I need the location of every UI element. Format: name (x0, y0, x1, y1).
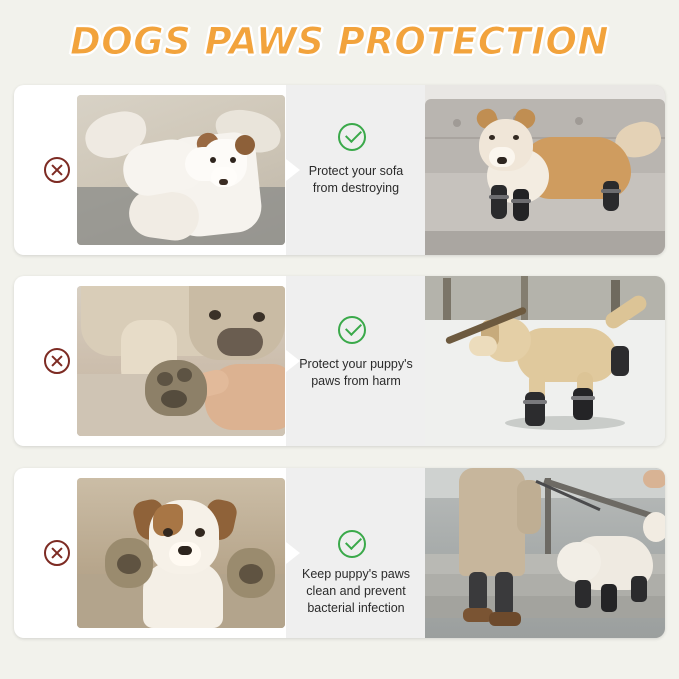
dog-tail (643, 512, 665, 542)
boot-strap (489, 195, 509, 199)
good-example-photo (425, 276, 665, 446)
dog-muzzle (217, 328, 263, 356)
boot-strap (601, 189, 621, 193)
dog-muzzle (469, 336, 497, 356)
arrow-right-icon (286, 542, 300, 564)
dog-eye (209, 310, 221, 320)
dog-eye (513, 135, 519, 140)
page-title: DOGS PAWS PROTECTION (0, 20, 679, 63)
dog-nose (178, 546, 192, 555)
caption-line: Protect your puppy's (292, 356, 420, 373)
bad-example-photo (77, 478, 285, 628)
dog-boot (611, 346, 629, 376)
no-entry-icon (44, 157, 70, 183)
check-tick (345, 533, 362, 550)
dog-eye (489, 135, 495, 140)
stair-step (425, 596, 665, 618)
stair-step (425, 618, 665, 638)
person-leg (469, 572, 487, 612)
caption-line: clean and prevent (292, 583, 420, 600)
tree-trunk (521, 276, 528, 322)
good-example-photo (425, 468, 665, 638)
bad-example-photo (77, 286, 285, 436)
dog-eye (163, 528, 173, 537)
person-leg (495, 572, 513, 616)
dog-boot (631, 576, 647, 602)
benefit-row: Protect your sofa from destroying (14, 85, 665, 255)
human-hand (643, 470, 665, 488)
paw-pad (161, 390, 187, 408)
good-example-photo (425, 85, 665, 255)
check-circle-icon (338, 530, 366, 558)
sofa-tuft (453, 119, 461, 127)
check-circle-icon (338, 123, 366, 151)
benefit-caption: Protect your sofa from destroying (292, 163, 420, 197)
paw-pad (157, 372, 173, 386)
dog-eye (230, 157, 236, 163)
boot-strap (523, 400, 547, 404)
sofa-front (425, 231, 665, 255)
person-arm (517, 480, 541, 534)
sofa-tuft (575, 117, 583, 125)
tree-trunk (443, 278, 451, 322)
caption-line: Protect your sofa (292, 163, 420, 180)
no-entry-icon (44, 348, 70, 374)
benefit-row: Protect your puppy's paws from harm (14, 276, 665, 446)
caption-panel: Protect your sofa from destroying (286, 85, 425, 255)
dog-boot (513, 189, 529, 221)
check-tick (345, 319, 362, 336)
benefit-caption: Protect your puppy's paws from harm (292, 356, 420, 390)
dog-head (557, 542, 601, 582)
boot-strap (511, 199, 531, 203)
paw-pad (177, 368, 192, 382)
caption-line: from destroying (292, 180, 420, 197)
bad-example-photo (77, 95, 285, 245)
check-tick (345, 126, 362, 143)
dog-boot (575, 580, 591, 608)
caption-line: paws from harm (292, 373, 420, 390)
dog-shadow (505, 416, 625, 430)
no-entry-icon (44, 540, 70, 566)
paw-pad (239, 564, 263, 584)
caption-line: Keep puppy's paws (292, 566, 420, 583)
infographic-page: DOGS PAWS PROTECTION (0, 0, 679, 679)
dog-boot (573, 388, 593, 420)
dog-eye (253, 312, 265, 322)
dog-boot (491, 185, 507, 219)
boot-strap (571, 396, 595, 400)
person-coat (459, 468, 525, 576)
check-circle-icon (338, 316, 366, 344)
caption-line: bacterial infection (292, 600, 420, 617)
paw-pad (117, 554, 141, 574)
dog-nose (497, 157, 507, 164)
caption-panel: Keep puppy's paws clean and prevent bact… (286, 468, 425, 638)
dog-boot (601, 584, 617, 612)
caption-panel: Protect your puppy's paws from harm (286, 276, 425, 446)
person-shoe (489, 612, 521, 626)
dog-nose (219, 179, 228, 185)
dog-boot (525, 392, 545, 426)
dog-eye (210, 157, 216, 163)
benefit-caption: Keep puppy's paws clean and prevent bact… (292, 566, 420, 617)
dog-boot (603, 181, 619, 211)
benefit-row: Keep puppy's paws clean and prevent bact… (14, 468, 665, 638)
dog-eye (195, 528, 205, 537)
